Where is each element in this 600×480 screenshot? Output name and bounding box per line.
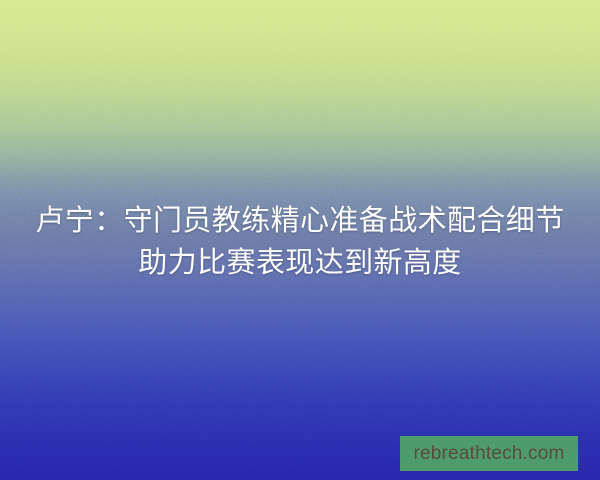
watermark-label: rebreathtech.com [413, 444, 564, 463]
watermark-badge[interactable]: rebreathtech.com [400, 436, 578, 471]
cover-image: 卢宁：守门员教练精心准备战术配合细节 助力比赛表现达到新高度 rebreatht… [0, 0, 600, 480]
page-title: 卢宁：守门员教练精心准备战术配合细节 助力比赛表现达到新高度 [0, 200, 600, 284]
title-line-2: 助力比赛表现达到新高度 [0, 242, 600, 284]
title-line-1: 卢宁：守门员教练精心准备战术配合细节 [0, 200, 600, 242]
